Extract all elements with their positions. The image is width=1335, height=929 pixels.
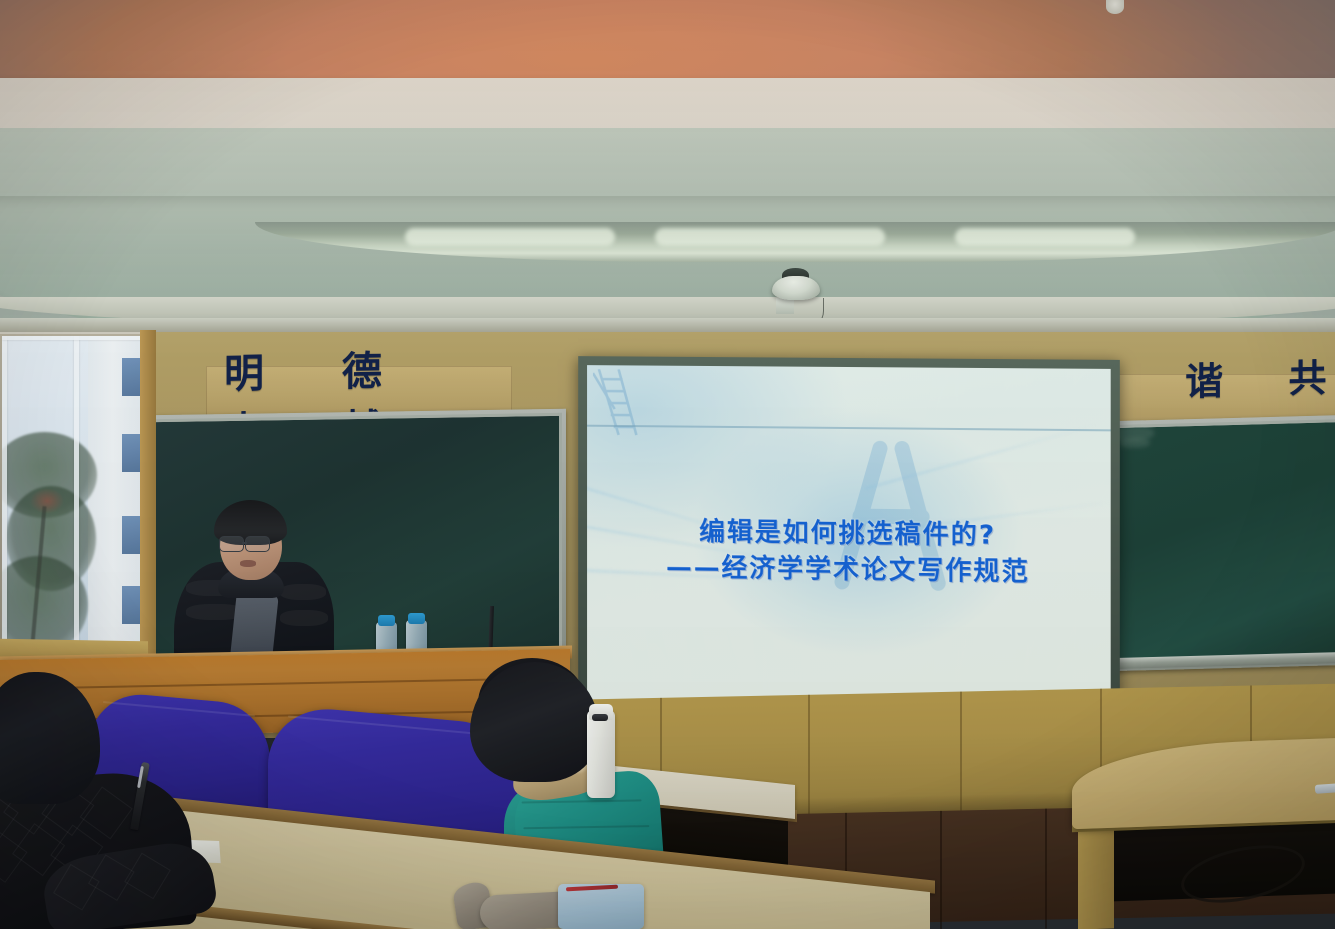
bottle-cap-icon — [408, 613, 425, 624]
projection-screen-surface: 编辑是如何挑选稿件的? ——经济学学术论文写作规范 — [587, 365, 1111, 733]
slide-title-block: 编辑是如何挑选稿件的? ——经济学学术论文写作规范 — [587, 516, 1111, 590]
slide-title-line-1: 编辑是如何挑选稿件的? — [587, 516, 1111, 554]
recessed-light-segment — [955, 228, 1135, 246]
eyeglasses-icon — [219, 536, 244, 552]
window-glass — [2, 336, 150, 666]
speaker-mouth — [240, 560, 256, 567]
lecture-hall-photo: 明 德 卓 越 口 谐 共 进 — [0, 0, 1335, 929]
student-hair — [0, 672, 100, 804]
eyeglasses-bridge — [242, 542, 247, 544]
speaker-person — [168, 500, 338, 665]
student-writing — [0, 672, 222, 929]
bridge-truss-icon — [593, 369, 652, 439]
bottle-cap-icon — [378, 615, 395, 626]
window-mullion — [2, 336, 7, 666]
blackboard-right-surface — [1102, 419, 1335, 668]
recessed-light-segment — [405, 228, 615, 246]
exterior-window — [0, 332, 154, 670]
blackboard-right — [1098, 414, 1335, 671]
ceiling-sprinkler-icon — [1106, 0, 1124, 14]
student-hair — [470, 662, 600, 782]
ceiling-device-mount — [776, 298, 794, 314]
red-foliage — [30, 488, 64, 514]
projection-screen: 编辑是如何挑选稿件的? ——经济学学术论文写作规范 — [578, 356, 1120, 743]
window-mullion — [74, 336, 79, 666]
thermos-button-icon — [592, 714, 608, 721]
window-jamb — [140, 330, 156, 666]
chalk-smudge — [1120, 438, 1150, 448]
dome-speaker-icon — [772, 276, 820, 300]
recessed-light-segment — [655, 228, 885, 246]
thermos-bottle — [587, 710, 615, 798]
wall-top-strip — [0, 318, 1335, 332]
window-mullion — [2, 336, 150, 340]
smartphone-icon — [1315, 783, 1335, 794]
eyeglasses-icon — [245, 536, 270, 552]
